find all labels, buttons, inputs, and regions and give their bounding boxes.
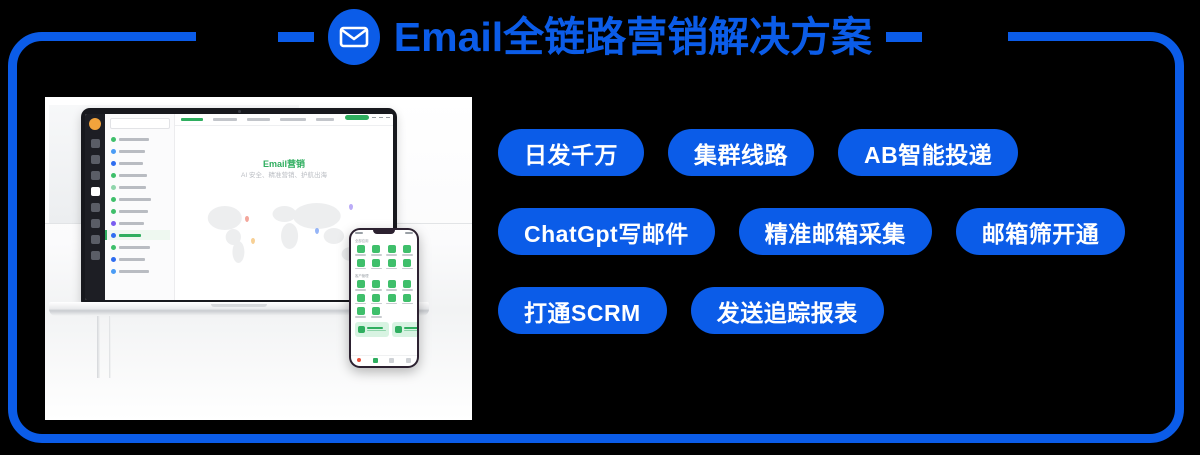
feature-pill-row: 日发千万 集群线路 AB智能投递 [498,129,1138,176]
feature-pill-chatgpt-writer[interactable]: ChatGpt写邮件 [498,208,715,255]
status-signal [405,232,413,234]
product-photo: Email营销 AI 安全、精准营销、护航出海 [45,97,472,420]
rail-icon-customers [91,187,100,196]
feature-pill-tracking-report[interactable]: 发送追踪报表 [691,287,884,334]
rail-icon-tasks [91,219,100,228]
sidebar-item [110,194,170,204]
app-sidebar [105,114,175,300]
sidebar-item [110,254,170,264]
feature-pill-row: ChatGpt写邮件 精准邮箱采集 邮箱筛开通 [498,208,1138,255]
phone-screen: 全部应用 客户管理 [351,230,417,366]
rail-icon-contacts [91,171,100,180]
nav-icon-home[interactable] [373,358,378,363]
app-hero: Email营销 AI 安全、精准营销、护航出海 [175,160,393,180]
app-icon-rail [85,114,105,300]
feature-pill-scrm[interactable]: 打通SCRM [498,287,667,334]
phone-app-icon[interactable] [401,280,415,291]
sidebar-item [110,170,170,180]
phone-app-icon[interactable] [385,294,399,305]
phone-app-icon[interactable] [385,259,399,270]
rail-icon-apps [91,251,100,260]
sidebar-item [110,134,170,144]
rail-icon-mail [91,155,100,164]
monitor-stand-leg-2 [109,316,111,378]
phone-app-grid-one [351,244,417,271]
sidebar-item [110,218,170,228]
tab-item [316,118,334,121]
phone-app-icon[interactable] [354,259,368,270]
phone-app-icon[interactable] [354,245,368,256]
feature-pill-row: 打通SCRM 发送追踪报表 [498,287,1138,334]
window-controls [345,115,390,120]
phone-app-icon[interactable] [385,245,399,256]
tab-item [213,118,237,121]
phone-app-icon[interactable] [401,245,415,256]
phone-app-icon[interactable] [370,245,384,256]
phone-promo-card[interactable] [355,322,389,337]
phone-promo-cards [351,320,417,339]
app-hero-subtitle: AI 安全、精准营销、护航出海 [175,173,393,180]
nav-icon-profile[interactable] [406,358,411,363]
rail-icon-reports [91,203,100,212]
phone-app-icon[interactable] [401,294,415,305]
phone-section-label-two: 客户管理 [351,271,417,279]
tab-item [280,118,306,121]
phone-notch [373,230,395,234]
maximize-icon [379,117,383,118]
sidebar-item [110,146,170,156]
rail-icon-home [91,139,100,148]
title-right-dash [886,32,922,42]
feature-pill-email-collection[interactable]: 精准邮箱采集 [739,208,932,255]
avatar [89,118,101,130]
laptop-camera [238,110,241,113]
phone-section-label-one: 全部应用 [351,236,417,244]
sidebar-item-selected [105,230,170,240]
feature-pill-list: 日发千万 集群线路 AB智能投递 ChatGpt写邮件 精准邮箱采集 邮箱筛开通… [498,129,1138,366]
phone-app-icon[interactable] [354,307,368,318]
app-tab-bar [175,114,393,126]
app-hero-title: Email营销 [175,160,393,169]
phone-app-icon[interactable] [370,280,384,291]
status-time [355,232,363,234]
phone-promo-card[interactable] [392,322,417,337]
phone-app-grid-two [351,279,417,320]
account-badge [345,115,369,120]
feature-pill-cluster-routes[interactable]: 集群线路 [668,129,814,176]
envelope-icon [328,9,380,65]
nav-icon-search[interactable] [389,358,394,363]
feature-pill-email-filter[interactable]: 邮箱筛开通 [956,208,1126,255]
phone-app-icon[interactable] [354,294,368,305]
minimize-icon [372,117,376,118]
title-left-dash [278,32,314,42]
phone-app-icon[interactable] [354,280,368,291]
sidebar-item [110,242,170,252]
phone-app-icon[interactable] [385,280,399,291]
laptop-screen: Email营销 AI 安全、精准营销、护航出海 [85,114,393,300]
feature-pill-ab-delivery[interactable]: AB智能投递 [838,129,1018,176]
laptop-base-notch [211,304,267,307]
phone-app-icon[interactable] [370,307,384,318]
tab-active [181,118,203,121]
sidebar-item [110,206,170,216]
phone-app-icon[interactable] [370,259,384,270]
header-title-bar: Email全链路营销解决方案 [0,6,1200,68]
monitor-stand-leg [97,316,100,378]
sidebar-item [110,182,170,192]
sidebar-search-input [110,118,170,129]
tab-item [247,118,270,121]
phone-app-icon[interactable] [370,294,384,305]
phone-app-icon[interactable] [401,259,415,270]
close-icon [386,117,390,118]
rail-icon-products [91,235,100,244]
feature-pill-daily-volume[interactable]: 日发千万 [498,129,644,176]
phone-bottom-nav [351,355,417,364]
nav-icon-notifications[interactable] [357,358,361,362]
page-title: Email全链路营销解决方案 [394,17,872,58]
phone-device: 全部应用 客户管理 [349,228,419,368]
sidebar-item [110,158,170,168]
sidebar-item [110,266,170,276]
